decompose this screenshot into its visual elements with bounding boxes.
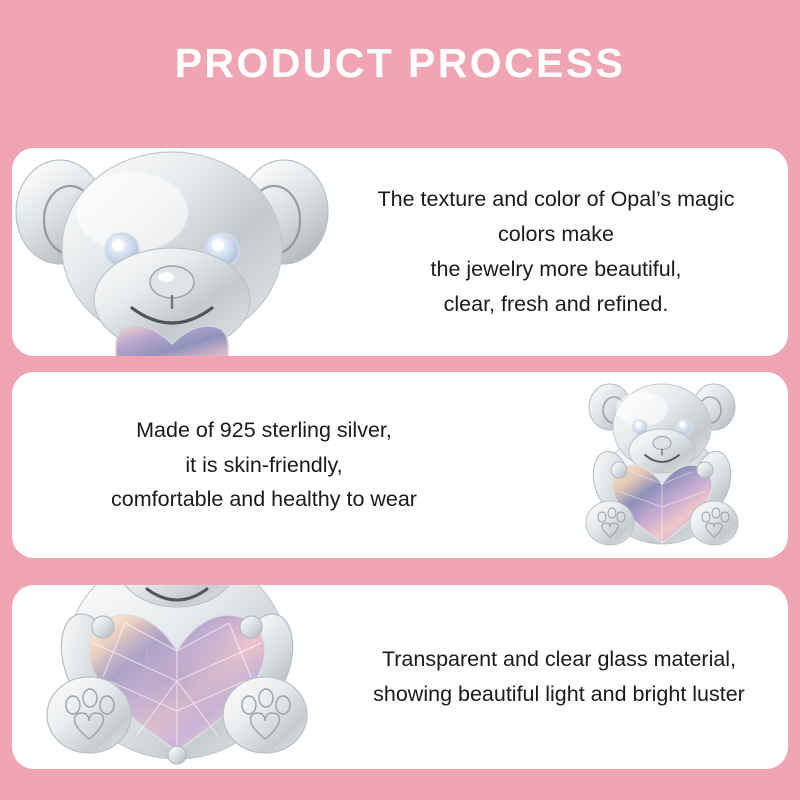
feature-text-glass-material: Transparent and clear glass material, sh… [342,642,788,712]
text-line: colors make [346,217,766,252]
bear-head-closeup-image [12,148,332,356]
silver-bear-head-illustration [12,150,332,356]
text-line: The texture and color of Opal’s magic [346,182,766,217]
feature-text-sterling-silver: Made of 925 sterling silver, it is skin-… [12,413,538,517]
feature-text-texture-and-color: The texture and color of Opal’s magic co… [332,182,788,321]
text-line: Made of 925 sterling silver, [30,413,498,448]
silver-bear-full-illustration [568,377,758,553]
page-header: PRODUCT PROCESS [0,0,800,132]
bear-heart-gem-illustration [27,585,327,769]
text-line: clear, fresh and refined. [346,287,766,322]
bear-full-figure-image [538,372,788,558]
text-line: Transparent and clear glass material, [356,642,762,677]
text-line: showing beautiful light and bright luste… [356,677,762,712]
page-title: PRODUCT PROCESS [175,43,626,90]
heart-gem-closeup-image [12,585,342,769]
feature-card-sterling-silver: Made of 925 sterling silver, it is skin-… [12,372,788,558]
feature-card-texture-and-color: The texture and color of Opal’s magic co… [12,148,788,356]
product-process-page: PRODUCT PROCESS [0,0,800,800]
feature-card-glass-material: Transparent and clear glass material, sh… [12,585,788,769]
text-line: it is skin-friendly, [30,448,498,483]
text-line: comfortable and healthy to wear [30,482,498,517]
text-line: the jewelry more beautiful, [346,252,766,287]
